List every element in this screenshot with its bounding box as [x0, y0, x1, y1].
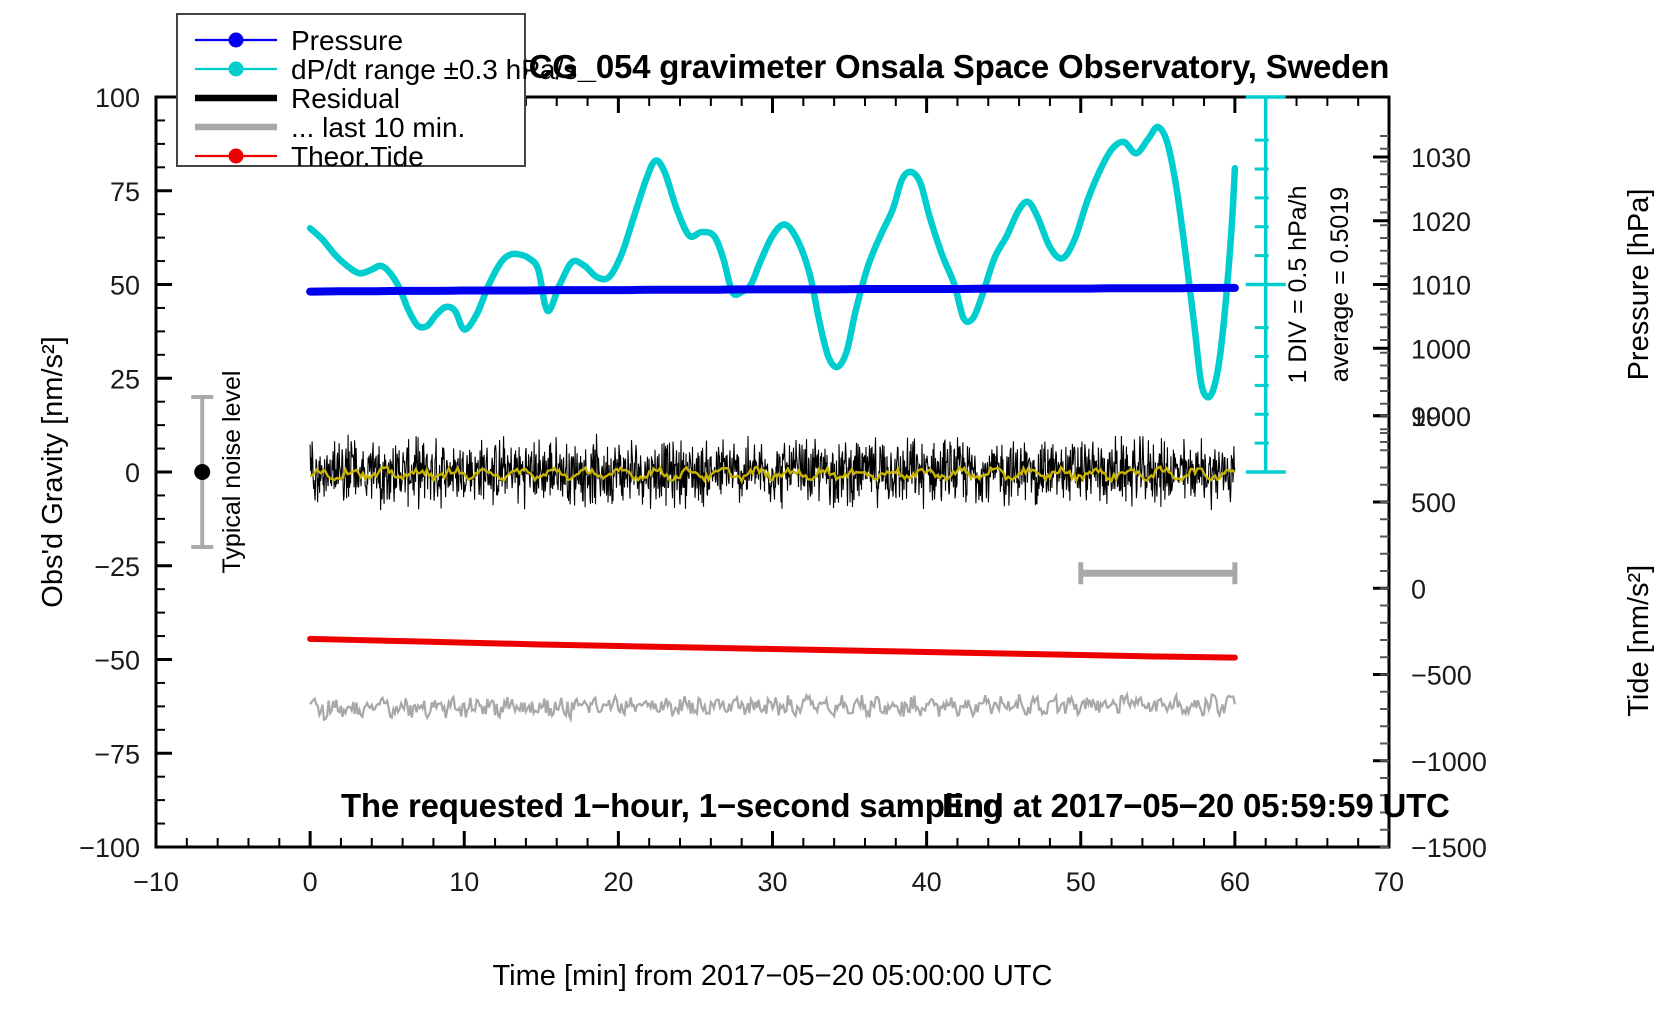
tide-axis-title: Tide [nm/s²] [1623, 565, 1655, 717]
x-tick-label: 0 [303, 867, 318, 897]
legend-label-2: Residual [291, 83, 400, 114]
tide-tick-label: −1500 [1411, 833, 1487, 863]
legend-marker-1 [229, 62, 244, 77]
y-axis-title: Obs'd Gravity [nm/s²] [37, 336, 69, 607]
div-scale-label: 1 DIV = 0.5 hPa/h [1284, 185, 1312, 383]
x-tick-label: 40 [912, 867, 942, 897]
y-tick-label: 25 [110, 364, 140, 394]
end-time-note: End at 2017−05−20 05:59:59 UTC [942, 787, 1450, 824]
legend-marker-4 [229, 149, 244, 164]
legend-marker-0 [229, 33, 244, 48]
x-tick-label: 20 [603, 867, 633, 897]
legend-label-0: Pressure [291, 25, 403, 56]
y-tick-label: 50 [110, 271, 140, 301]
y-tick-label: −25 [94, 552, 140, 582]
gravimeter-plot-page: −10010203040506070Time [min] from 2017−0… [0, 0, 1676, 1020]
pressure-tick-label: 1030 [1411, 143, 1471, 173]
tide-tick-label: −1000 [1411, 747, 1487, 777]
series-pressure [310, 288, 1235, 292]
y-tick-label: −100 [79, 833, 140, 863]
x-tick-label: 60 [1220, 867, 1250, 897]
tide-tick-label: −500 [1411, 661, 1472, 691]
noise-level-dot [194, 464, 210, 480]
gravimeter-chart: −10010203040506070Time [min] from 2017−0… [0, 0, 1676, 1020]
x-tick-label: 50 [1066, 867, 1096, 897]
y-tick-label: 100 [95, 83, 140, 113]
sampling-note: The requested 1−hour, 1−second sampling [341, 787, 1003, 824]
x-tick-label: −10 [133, 867, 179, 897]
x-axis-title: Time [min] from 2017−05−20 05:00:00 UTC [493, 960, 1053, 992]
x-tick-label: 10 [449, 867, 479, 897]
legend-label-4: Theor.Tide [291, 141, 424, 172]
y-tick-label: −75 [94, 739, 140, 769]
tide-tick-label: 0 [1411, 574, 1426, 604]
legend-label-3: ... last 10 min. [291, 112, 465, 143]
chart-title: SCG_054 gravimeter Onsala Space Observat… [507, 48, 1389, 85]
x-tick-label: 70 [1374, 867, 1404, 897]
x-tick-label: 30 [757, 867, 787, 897]
tide-tick-label: 1000 [1411, 402, 1471, 432]
y-tick-label: 0 [125, 458, 140, 488]
y-tick-label: 75 [110, 177, 140, 207]
pressure-tick-label: 1010 [1411, 271, 1471, 301]
pressure-tick-label: 1020 [1411, 207, 1471, 237]
y-tick-label: −50 [94, 646, 140, 676]
pressure-tick-label: 1000 [1411, 334, 1471, 364]
tide-tick-label: 500 [1411, 488, 1456, 518]
pressure-axis-title: Pressure [hPa] [1623, 189, 1655, 381]
average-label: average = 0.5019 [1326, 187, 1354, 382]
noise-level-label: Typical noise level [218, 371, 246, 574]
legend-label-1: dP/dt range ±0.3 hPa/s [291, 54, 577, 85]
